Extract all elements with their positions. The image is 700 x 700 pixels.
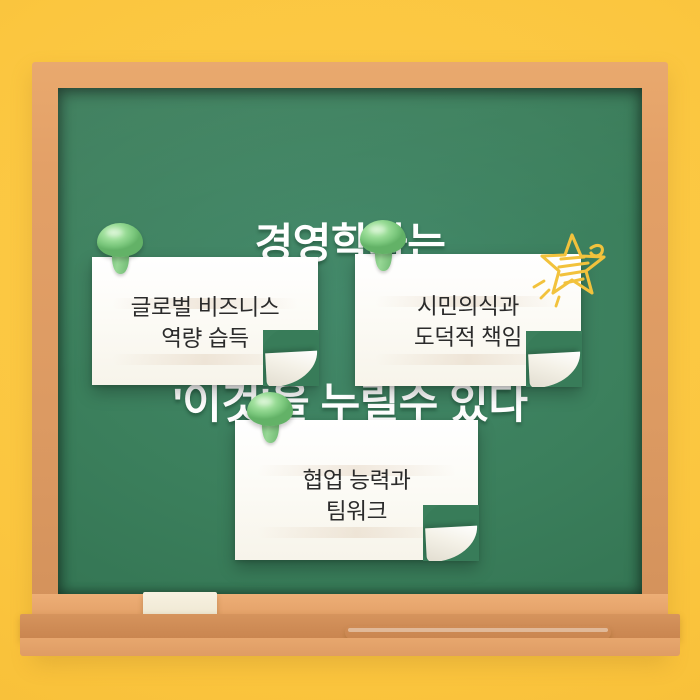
sticky-note-1[interactable]: 글로벌 비즈니스 역량 습득: [92, 257, 318, 385]
sticky-note-3[interactable]: 협업 능력과 팀워크: [235, 420, 478, 560]
note-corner-curl: [526, 331, 582, 387]
note-corner-curl: [423, 505, 479, 561]
note-corner-curl: [263, 330, 319, 386]
chalk-ledge-lip: [20, 638, 680, 656]
sticky-note-2[interactable]: 시민의식과 도덕적 책임: [355, 254, 581, 386]
poster-canvas: 경영학과는 '이것'을 누릴수 있다 글로벌 비즈니스 역량 습득 시민의식과 …: [0, 0, 700, 700]
